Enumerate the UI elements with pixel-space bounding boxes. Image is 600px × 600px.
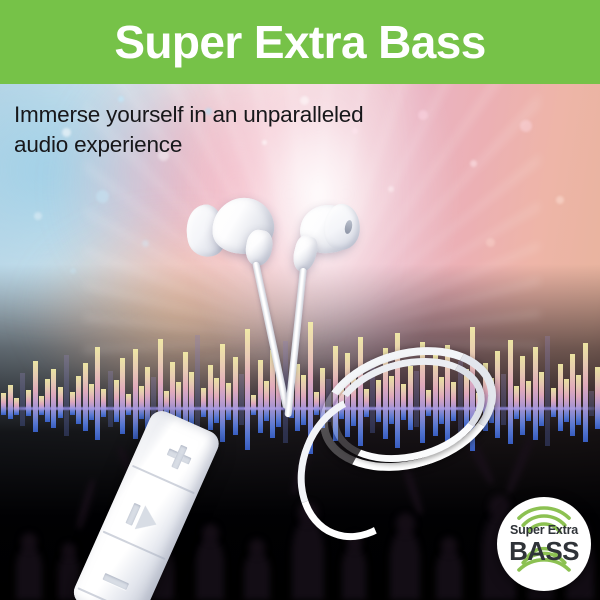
subtitle-text: Immerse yourself in an unparalleled audi… [14, 100, 484, 160]
page-title: Super Extra Bass [114, 19, 485, 65]
volume-down-icon[interactable] [102, 573, 129, 590]
super-extra-bass-badge: Super Extra BASS [497, 497, 591, 591]
header-banner: Super Extra Bass [0, 0, 600, 84]
inline-remote-control[interactable] [70, 407, 223, 600]
remote-seam-3 [77, 587, 140, 600]
right-earbud-cable [284, 268, 307, 418]
badge-bass-label: BASS [509, 538, 579, 564]
remote-seam-1 [132, 465, 195, 495]
left-earbud-cable [252, 261, 290, 409]
product-advertisement: Super Extra Bass Immerse yourself in an … [0, 0, 600, 600]
badge-text-group: Super Extra BASS [509, 524, 579, 565]
remote-seam-2 [103, 531, 166, 561]
badge-super-label: Super Extra [509, 524, 579, 537]
